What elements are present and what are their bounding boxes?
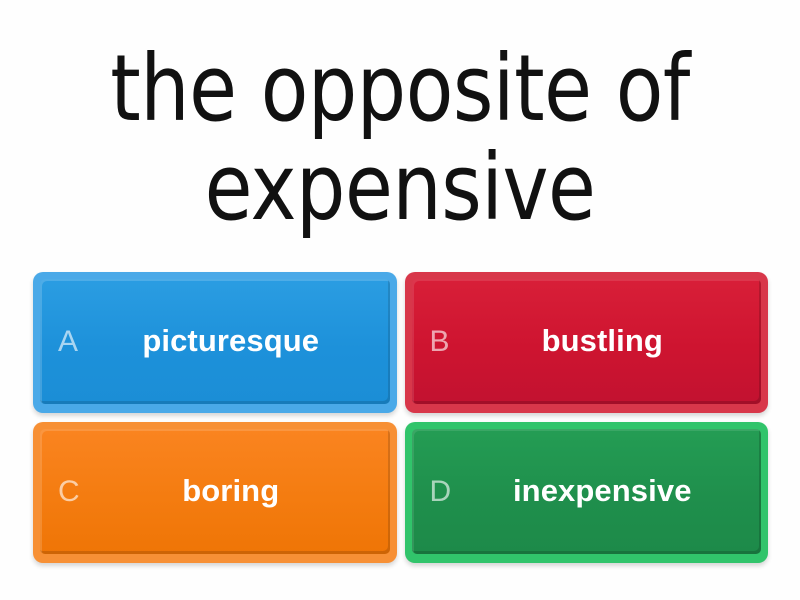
question-text: the opposite of expensive [65,39,734,238]
answer-label-a: picturesque [92,325,376,358]
answer-option-b-face: B bustling [412,279,762,404]
answer-letter-d: D [424,477,464,507]
answer-label-d: inexpensive [464,475,748,508]
answer-label-b: bustling [464,325,748,358]
answer-letter-c: C [52,477,92,507]
answer-label-c: boring [92,475,376,508]
answer-option-c[interactable]: C boring [33,422,397,563]
answer-option-d[interactable]: D inexpensive [405,422,769,563]
answer-option-d-face: D inexpensive [412,429,762,554]
answer-letter-b: B [424,327,464,357]
answer-option-b[interactable]: B bustling [405,272,769,413]
answer-letter-a: A [52,327,92,357]
quiz-card: the opposite of expensive A picturesque … [0,0,800,600]
answer-option-c-face: C boring [40,429,390,554]
question-area: the opposite of expensive [0,0,800,272]
answer-option-a[interactable]: A picturesque [33,272,397,413]
answer-option-a-face: A picturesque [40,279,390,404]
answer-options-grid: A picturesque B bustling C boring D inex… [0,272,800,600]
